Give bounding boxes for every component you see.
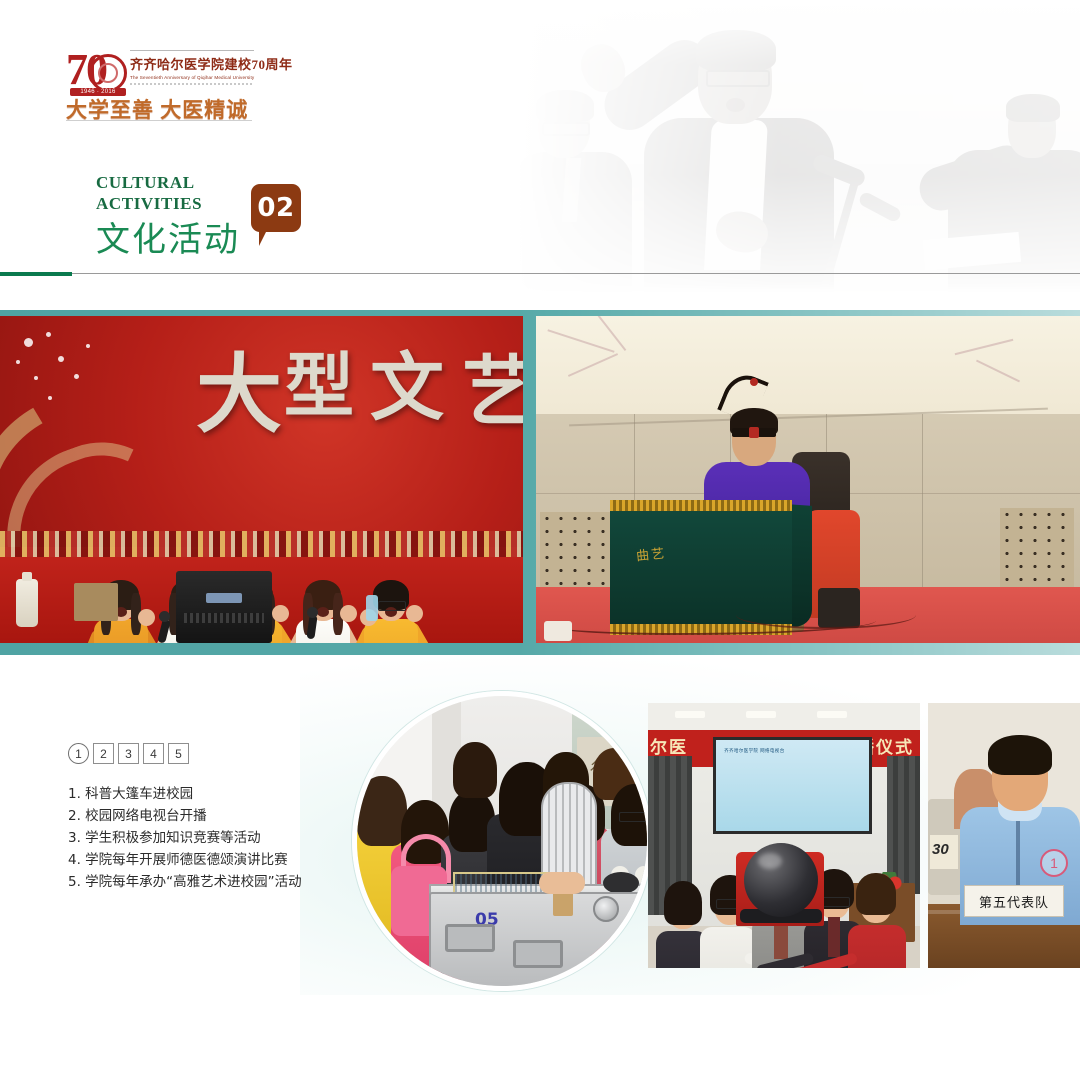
caption-item-4: 4. 学院每年开展师德医德颂演讲比赛 (68, 849, 368, 871)
logo-name-block: 齐齐哈尔医学院建校70周年 The Seventieth Anniversary… (130, 50, 254, 85)
lower-section: 1 2 3 4 5 1. 科普大篷车进校园 2. 校园网络电视台开播 3. 学生… (0, 655, 1080, 1080)
backdrop-char-3: 文 (370, 328, 444, 435)
header-divider-rule (72, 273, 1080, 274)
backdrop-char-1: 大 (196, 324, 282, 449)
photo-choir-performance: 大 型 文 艺 (0, 316, 523, 643)
photo-quiz-contestant: 30 1 第五代表队 (928, 703, 1080, 968)
pager-item-3[interactable]: 3 (118, 743, 139, 764)
photo-pager[interactable]: 1 2 3 4 5 (68, 743, 189, 764)
section-number: 02 (251, 184, 301, 232)
pager-item-5[interactable]: 5 (168, 743, 189, 764)
header-watermark-photo (520, 0, 1080, 292)
screen-text: 齐齐哈尔医学院 网络电视台 (724, 748, 784, 754)
water-jug (16, 579, 38, 627)
stage-box (74, 583, 118, 621)
pager-item-2[interactable]: 2 (93, 743, 114, 764)
backdrop-char-2: 型 (284, 330, 354, 431)
case-handle-1 (445, 924, 495, 952)
water-bottle (366, 595, 378, 621)
pager-item-1[interactable]: 1 (68, 743, 89, 764)
photo-tv-launch-ceremony: 尔医 播仪式 齐齐哈尔医学院 网络电视台 (648, 703, 920, 968)
case-handle-2 (513, 940, 563, 968)
exhibit-knob (603, 872, 639, 894)
team-nameplate: 第五代表队 (964, 885, 1064, 917)
logo-ring-icon (89, 54, 127, 92)
contestant-seat-number: 1 (1040, 849, 1068, 877)
photo-opera-performance: 曲艺 (536, 316, 1080, 643)
caption-item-2: 2. 校园网络电视台开播 (68, 805, 368, 827)
crystal-ball-launcher (744, 843, 818, 917)
backdrop-char-4: 艺 (462, 330, 523, 440)
team-nameplate-text: 第五代表队 (979, 892, 1049, 911)
logo-english-name: The Seventieth Anniversary of Qiqihar Me… (130, 75, 254, 80)
section-title-en-line2: ACTIVITIES (96, 193, 240, 214)
caption-item-5: 5. 学院每年承办“高雅艺术进校园”活动 (68, 871, 368, 893)
pager-item-4[interactable]: 4 (143, 743, 164, 764)
logo-underline-divider (66, 120, 252, 121)
caption-item-3: 3. 学生积极参加知识竞赛等活动 (68, 827, 368, 849)
section-title-en-line1: CULTURAL (96, 172, 240, 193)
university-logo: 70 1946 · 2016 齐齐哈尔医学院建校70周年 The Seventi… (64, 46, 254, 118)
banner-text-left: 尔医 (650, 733, 688, 758)
section-title: CULTURAL ACTIVITIES 文化活动 (96, 172, 240, 260)
stage-plug (544, 621, 572, 641)
page-root: 70 1946 · 2016 齐齐哈尔医学院建校70周年 The Seventi… (0, 0, 1080, 1080)
stage-monitor-speaker (176, 571, 272, 643)
header-accent-rule (0, 272, 72, 276)
section-number-badge: 02 (251, 184, 301, 232)
page-header: 70 1946 · 2016 齐齐哈尔医学院建校70周年 The Seventi… (0, 0, 1080, 300)
table-banner-text: 曲艺 (635, 542, 667, 564)
caption-list: 1. 科普大篷车进校园 2. 校园网络电视台开播 3. 学生积极参加知识竞赛等活… (68, 783, 368, 893)
section-title-cn: 文化活动 (96, 220, 240, 260)
logo-chinese-name: 齐齐哈尔医学院建校70周年 (130, 54, 254, 73)
photo-science-caravan-circle: 尔医 (352, 691, 652, 991)
caption-item-1: 1. 科普大篷车进校园 (68, 783, 368, 805)
top-photo-band: 大 型 文 艺 (0, 310, 1080, 655)
case-latch (593, 896, 619, 922)
